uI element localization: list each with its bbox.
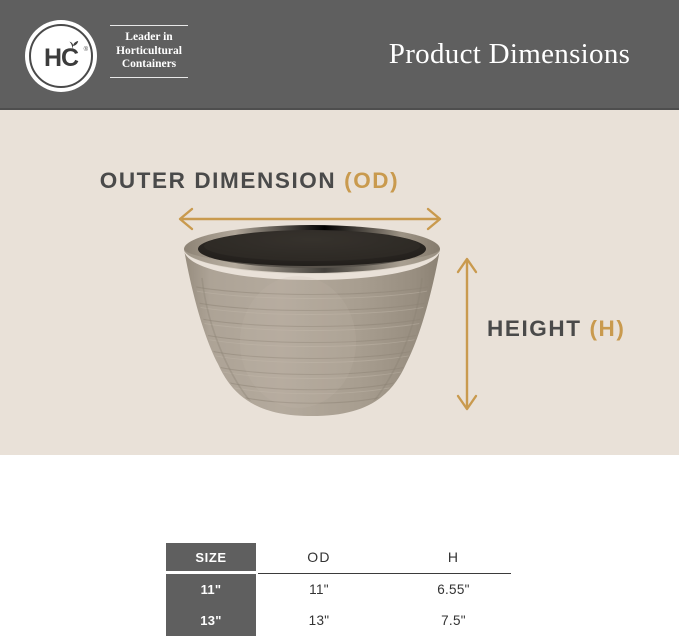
table-header-h: H: [396, 543, 511, 571]
table-size-column: 11" 13": [166, 574, 256, 636]
table-header-od: OD: [266, 543, 372, 571]
height-arrow-icon: [452, 252, 482, 416]
page-title: Product Dimensions: [340, 0, 679, 108]
table-header-size: SIZE: [166, 543, 256, 571]
outer-dimension-abbrev: (OD): [344, 168, 399, 193]
cell-od-2: 13": [266, 605, 372, 636]
table-header-size-label: SIZE: [195, 550, 226, 565]
brand-tagline: Leader in Horticultural Containers: [108, 25, 190, 78]
cell-size-2: 13": [200, 613, 222, 628]
tagline-line-1: Leader in: [108, 31, 190, 45]
page-header: HC ® Leader in Horticultural Containers …: [0, 0, 679, 110]
spec-table: SIZE OD H 11" 13" 11" 6.55" 13" 7.5": [166, 543, 511, 636]
tagline-rule-top: [110, 25, 188, 26]
brand-logo: HC ®: [25, 20, 97, 92]
outer-dimension-label: OUTER DIMENSION (OD): [0, 168, 679, 194]
table-row: 13": [166, 605, 256, 636]
table-row: 11": [166, 574, 256, 605]
diagram-stage: OUTER DIMENSION (OD): [0, 110, 679, 455]
tagline-rule-bottom: [110, 77, 188, 78]
table-header-od-label: OD: [307, 549, 330, 565]
height-text: HEIGHT: [487, 316, 582, 341]
planter-pot-image: [176, 222, 448, 420]
cell-size-1: 11": [201, 582, 222, 597]
height-abbrev: (H): [589, 316, 625, 341]
tagline-line-3: Containers: [108, 58, 190, 72]
logo-monogram: HC: [25, 20, 97, 92]
table-header-h-label: H: [448, 549, 459, 565]
cell-h-2: 7.5": [396, 605, 511, 636]
tagline-line-2: Horticultural: [108, 45, 190, 59]
logo-trademark: ®: [84, 47, 88, 53]
cell-od-1: 11": [266, 574, 372, 605]
cell-h-1: 6.55": [396, 574, 511, 605]
height-label: HEIGHT (H): [487, 316, 626, 342]
outer-dimension-text: OUTER DIMENSION: [100, 168, 337, 193]
